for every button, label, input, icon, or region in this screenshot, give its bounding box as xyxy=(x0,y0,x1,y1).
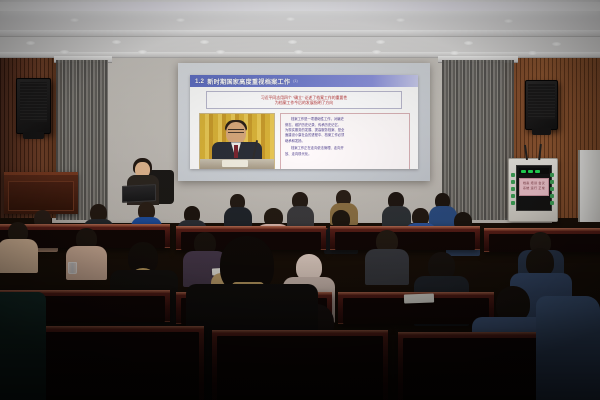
downlight-icon xyxy=(138,50,147,54)
speaker-grille xyxy=(528,84,554,120)
downlight-icon xyxy=(528,51,537,55)
glasses-icon xyxy=(228,129,244,133)
slide-title-text: 新时期国家高度重视档案工作 xyxy=(207,77,290,86)
person-coat xyxy=(0,292,46,400)
console-right-buttons[interactable] xyxy=(550,173,555,209)
slide-title-bar: 1.2 新时期国家高度重视档案工作 (1) xyxy=(190,75,418,87)
downlight-icon xyxy=(216,50,225,54)
bench-top-edge xyxy=(330,226,480,229)
downlight-icon xyxy=(176,18,185,22)
downlight-icon xyxy=(372,50,381,54)
handout-paper xyxy=(404,293,434,303)
left-wall-speaker xyxy=(16,78,51,134)
projection-screen: 1.2 新时期国家高度重视档案工作 (1) 习近平同志用四个 "确立" 论述了档… xyxy=(178,63,430,181)
bench-top-edge xyxy=(24,326,204,329)
ceiling-cornice-upper xyxy=(0,30,600,37)
bench-back-panel xyxy=(217,336,383,400)
presentation-slide: 1.2 新时期国家高度重视档案工作 (1) 习近平同志用四个 "确立" 论述了档… xyxy=(190,75,418,169)
downlight-icon xyxy=(112,40,121,44)
laptop-icon xyxy=(122,184,156,203)
speaker-bracket xyxy=(532,128,552,135)
status-led xyxy=(521,170,526,173)
downlight-icon xyxy=(450,51,459,55)
curtain-right xyxy=(442,60,514,220)
ceiling-light-strip xyxy=(0,2,600,11)
downlight-icon xyxy=(70,18,79,22)
downlight-icon xyxy=(504,19,513,23)
downlight-icon xyxy=(376,40,385,44)
person-body xyxy=(365,249,409,285)
downlight-icon xyxy=(464,41,473,45)
slide-title-superscript: (1) xyxy=(293,79,297,83)
console-button[interactable] xyxy=(511,194,515,198)
bench-top-edge xyxy=(176,226,326,229)
bench-row xyxy=(330,226,480,250)
console-display-row: 系统 运行 正常 xyxy=(521,186,547,191)
downlight-icon xyxy=(286,17,295,21)
downlight-icon xyxy=(26,41,35,45)
console-status-leds xyxy=(519,168,549,174)
console-display-row: 档案 培训 会议 xyxy=(521,181,547,186)
bench-back-panel xyxy=(335,232,475,250)
console-button[interactable] xyxy=(550,173,554,177)
console-button[interactable] xyxy=(511,180,515,184)
console-button[interactable] xyxy=(550,187,554,191)
right-wall-speaker xyxy=(525,80,558,130)
bench-row-front xyxy=(24,326,204,400)
console-button[interactable] xyxy=(550,194,554,198)
av-control-console[interactable]: 档案 培训 会议 系统 运行 正常 xyxy=(508,158,558,222)
bench-top-edge xyxy=(484,228,600,231)
whiteboard xyxy=(578,150,600,222)
podium-front-panel xyxy=(8,181,74,211)
slide-content-area: 档案工作是一项基础性工作，对编史 修志、维护历史记录、传承历史记忆、 为现实服务… xyxy=(199,113,410,169)
downlight-icon xyxy=(200,40,209,44)
photo-person-head xyxy=(226,122,246,144)
speaker-grille xyxy=(20,82,48,122)
presenter xyxy=(122,158,168,208)
slide-leader-photo xyxy=(199,113,275,169)
downlight-icon xyxy=(552,42,561,46)
slide-banner-line-2: 为档案工作今后的发展指明了方向 xyxy=(210,100,398,106)
downlight-icon xyxy=(288,40,297,44)
person-body xyxy=(0,239,38,273)
water-cup xyxy=(68,262,77,274)
person-body xyxy=(287,206,314,228)
ceiling xyxy=(0,0,600,64)
speaker-bracket xyxy=(23,132,44,139)
slide-text-panel: 档案工作是一项基础性工作，对编史 修志、维护历史记录、传承历史记忆、 为现实服务… xyxy=(280,113,410,169)
console-left-buttons[interactable] xyxy=(511,173,516,209)
downlight-icon xyxy=(396,18,405,22)
conference-room-photo: 1.2 新时期国家高度重视档案工作 (1) 习近平同志用四个 "确立" 论述了档… xyxy=(0,0,600,400)
console-button[interactable] xyxy=(550,180,554,184)
console-display[interactable]: 档案 培训 会议 系统 运行 正常 xyxy=(519,178,549,196)
console-button[interactable] xyxy=(511,187,515,191)
slide-red-banner: 习近平同志用四个 "确立" 论述了档案工作的重要性 为档案工作今后的发展指明了方… xyxy=(206,91,402,109)
photo-papers xyxy=(222,160,248,167)
console-button[interactable] xyxy=(511,201,515,205)
photo-person-tie xyxy=(234,145,238,158)
downlight-icon xyxy=(294,50,303,54)
bench-top-edge xyxy=(212,330,388,333)
speaker-podium xyxy=(4,172,78,214)
person-body xyxy=(224,207,252,228)
person-body xyxy=(382,206,411,228)
bench-back-panel xyxy=(29,332,199,400)
console-button[interactable] xyxy=(511,173,515,177)
bench-row-front xyxy=(212,330,388,400)
status-led xyxy=(528,170,533,173)
status-led xyxy=(535,170,540,173)
downlight-icon xyxy=(60,50,69,54)
slide-title-number: 1.2 xyxy=(195,78,204,85)
slide-body-line: 放、走向现代化。 xyxy=(285,152,406,157)
person-coat xyxy=(536,296,600,400)
console-button[interactable] xyxy=(550,201,554,205)
